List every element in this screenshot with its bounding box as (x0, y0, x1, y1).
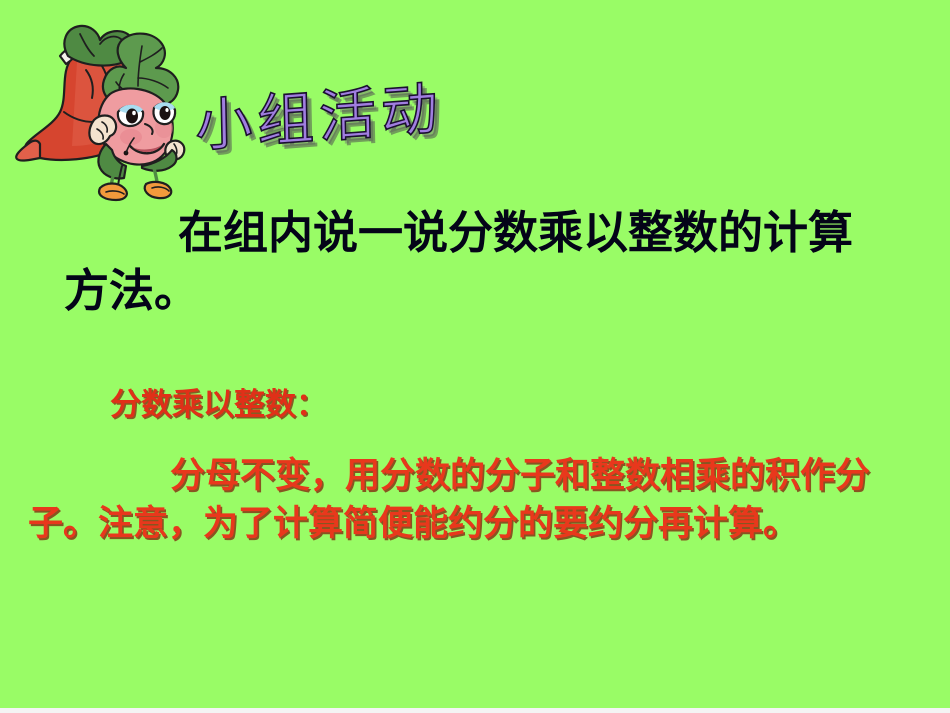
page-title: 小组活动 (195, 78, 444, 158)
slide-canvas: 小组活动 在组内说一说分数乘以整数的计算方法。 分数乘以整数： 分母不变，用分数… (0, 0, 950, 713)
mascot-illustration (14, 16, 206, 202)
title-block: 小组活动 (196, 96, 516, 192)
radish-carrot-character-icon (14, 16, 206, 202)
rule-heading: 分数乘以整数： (110, 387, 327, 423)
bottom-edge-strip (0, 708, 950, 713)
rule-paragraph: 分母不变，用分数的分子和整数相乘的积作分子。注意，为了计算简便能约分的要约分再计… (28, 452, 928, 548)
instruction-text: 在组内说一说分数乘以整数的计算方法。 (64, 204, 884, 320)
